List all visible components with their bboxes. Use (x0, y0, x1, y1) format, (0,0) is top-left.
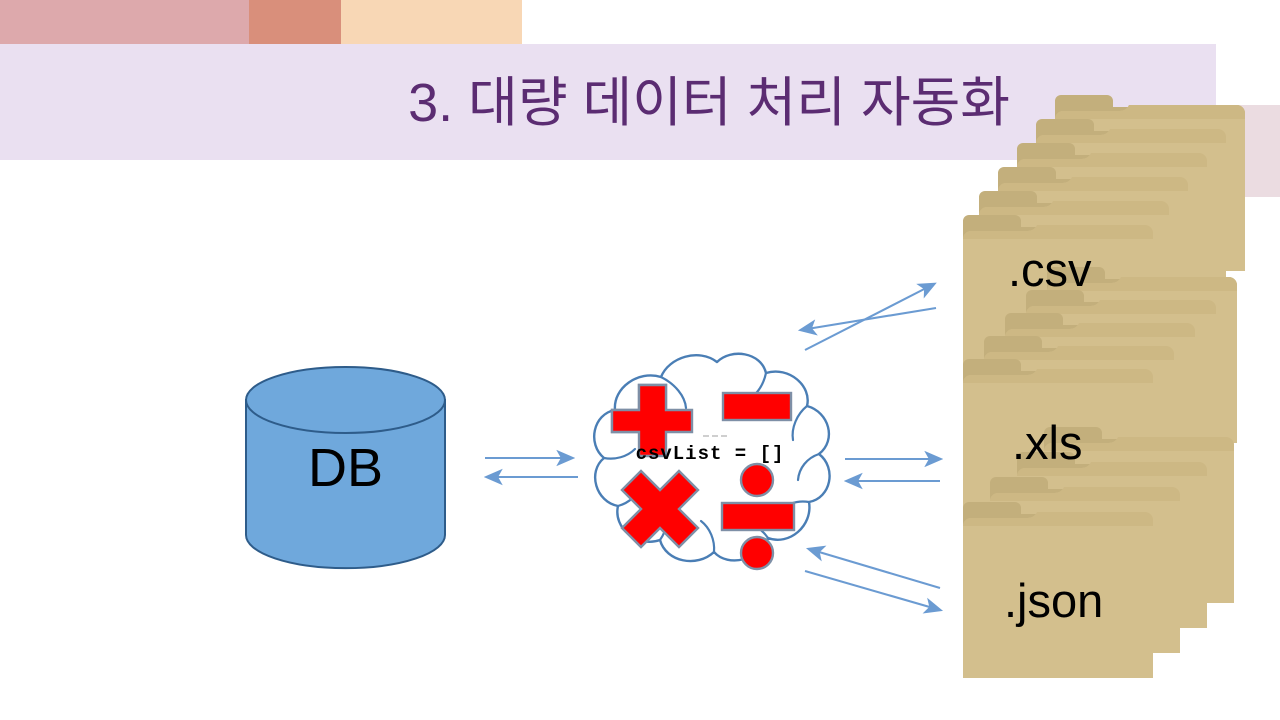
folder-label-xls: .xls (1012, 415, 1083, 470)
cloud-code-text: csvList = [] (565, 443, 855, 465)
text-handle-marker (703, 435, 727, 439)
database-cylinder: DB (243, 365, 448, 570)
database-label: DB (243, 365, 448, 570)
arrow-csv-to-cloud (801, 308, 936, 330)
cloud-shape (565, 340, 855, 605)
slide-canvas: 3. 대량 데이터 처리 자동화 DB (0, 0, 1280, 720)
processing-cloud: csvList = [] (565, 340, 855, 605)
folder-label-json: .json (1004, 573, 1103, 628)
minus-symbol (723, 393, 791, 420)
folder-label-csv: .csv (1008, 242, 1092, 297)
